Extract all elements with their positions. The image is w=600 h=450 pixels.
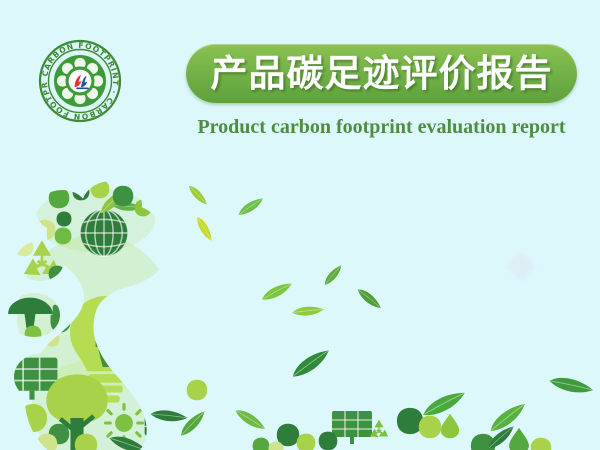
report-title-banner: 产品碳足迹评价报告 (186, 44, 577, 103)
cover-header: CARBON FOOTPRINT · CARBON FOOTPRINT · (0, 0, 600, 160)
footprint-edge-icons (150, 380, 210, 437)
carbon-footprint-seal-icon: CARBON FOOTPRINT · CARBON FOOTPRINT · (37, 38, 123, 124)
page-title: 产品碳足迹评价报告 (211, 55, 553, 92)
falling-leaves (188, 182, 594, 436)
footprint-icon-cluster (3, 180, 217, 450)
eco-footprint-illustration (0, 165, 600, 450)
page-subtitle: Product carbon footprint evaluation repo… (186, 116, 577, 139)
report-cover-page: CARBON FOOTPRINT · CARBON FOOTPRINT · (0, 0, 600, 450)
